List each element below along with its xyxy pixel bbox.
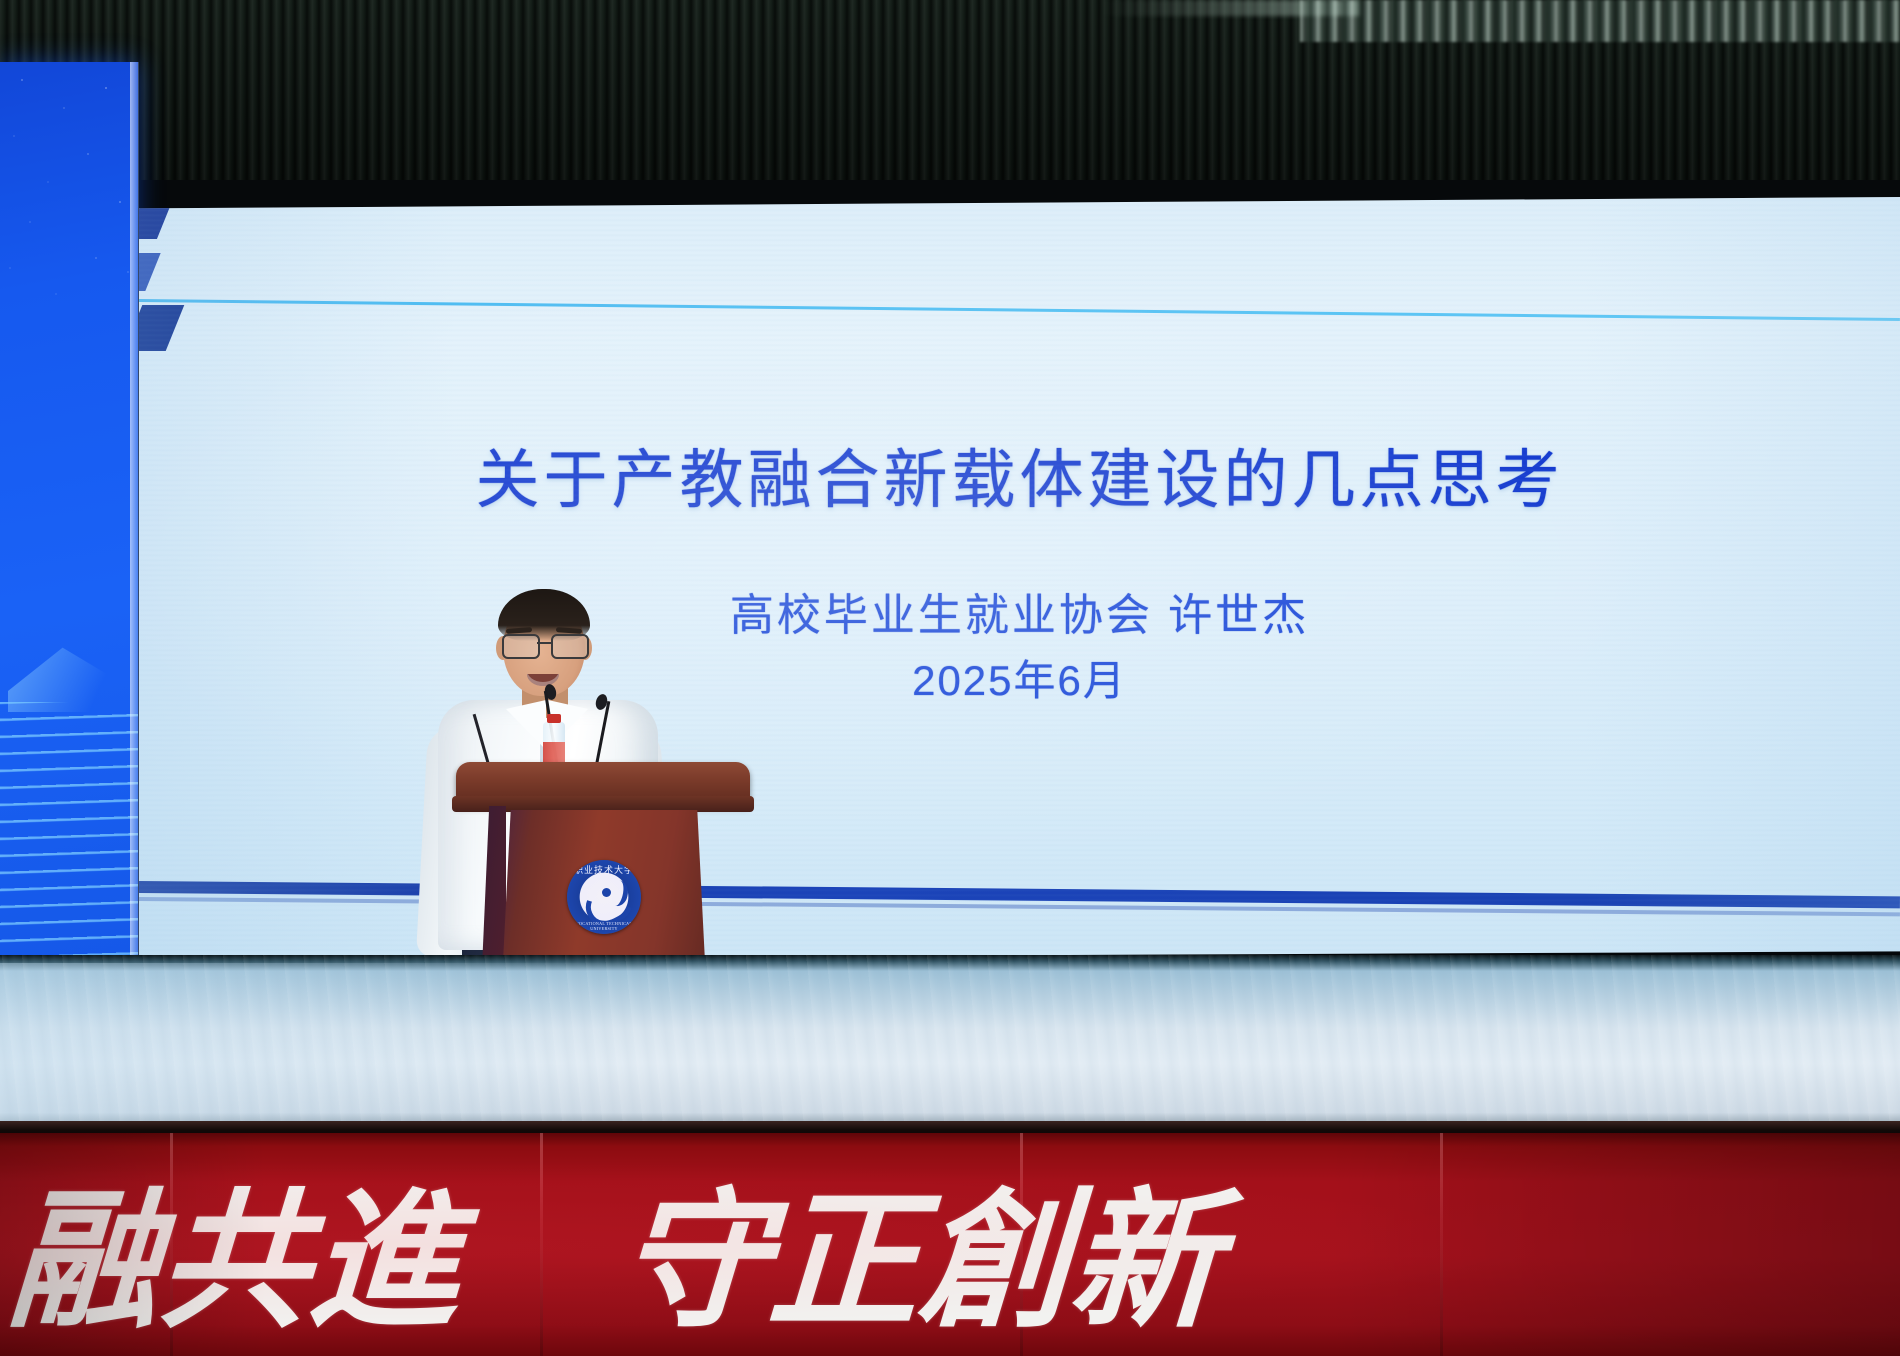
- emblem-dot: [602, 888, 611, 897]
- side-screen-wave-lines: [0, 702, 138, 962]
- glasses-lens-left: [502, 634, 540, 659]
- slide-accent-rule: [139, 299, 1900, 321]
- glasses-lens-right: [551, 634, 589, 659]
- glasses-bridge: [537, 642, 552, 644]
- led-side-screen: [0, 62, 138, 962]
- emblem-figure-mark: [583, 878, 625, 916]
- bottle-label: [543, 742, 565, 762]
- slide-title: 关于产教融合新载体建设的几点思考: [139, 429, 1900, 521]
- projection-slide: 关于产教融合新载体建设的几点思考 高校毕业生就业协会 许世杰 2025年6月: [139, 197, 1900, 959]
- red-banner: 融共進 守正創新: [0, 1133, 1900, 1356]
- slide-decoration-parallelogram-3: [139, 253, 161, 291]
- bottle-cap: [547, 714, 561, 723]
- curtain-highlight: [1300, 0, 1900, 42]
- stage-floor: [0, 955, 1900, 1130]
- stage-floor-sheen: [0, 955, 1900, 1130]
- side-screen-edge: [130, 62, 139, 962]
- banner-shading: [0, 1133, 1900, 1356]
- university-emblem-icon: 职业技术大学 VOCATIONAL TECHNICAL UNIVERSITY: [567, 860, 641, 934]
- emblem-chinese-text: 职业技术大学: [567, 863, 641, 876]
- slide-date: 2025年6月: [139, 647, 1900, 708]
- emblem-english-text: VOCATIONAL TECHNICAL UNIVERSITY: [570, 921, 638, 931]
- slide-decoration-parallelogram-2: [139, 305, 184, 351]
- glasses-icon: [501, 634, 587, 656]
- slide-presenter-line: 高校毕业生就业协会 许世杰: [139, 579, 1900, 643]
- stage-photo-scene: 关于产教融合新载体建设的几点思考 高校毕业生就业协会 许世杰 2025年6月: [0, 0, 1900, 1356]
